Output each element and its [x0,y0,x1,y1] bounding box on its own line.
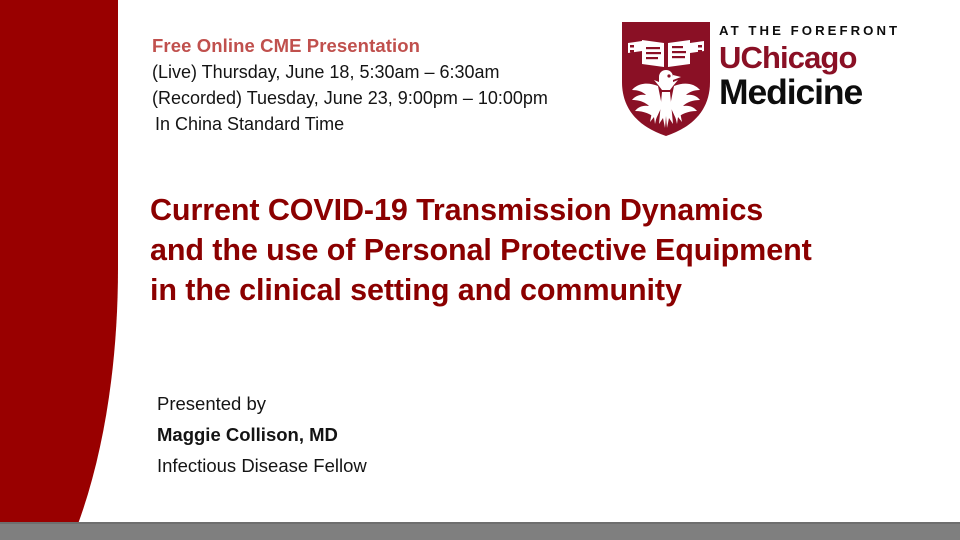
title-line-2: and the use of Personal Protective Equip… [150,230,890,270]
uchicago-phoenix-shield-icon [618,20,714,138]
cme-timezone: In China Standard Time [152,111,622,137]
presenter-block: Presented by Maggie Collison, MD Infecti… [157,388,557,481]
logo-wordmark: AT THE FOREFRONT UChicago Medicine [719,23,929,112]
uchicago-medicine-logo: AT THE FOREFRONT UChicago Medicine [618,20,928,140]
logo-brand-uchicago: UChicago [719,40,929,75]
footer-gray-bar [0,522,960,540]
title-line-3: in the clinical setting and community [150,270,890,310]
slide-title: Current COVID-19 Transmission Dynamics a… [150,190,890,310]
presenter-name: Maggie Collison, MD [157,419,557,450]
cme-info-block: Free Online CME Presentation (Live) Thur… [152,33,622,137]
cme-heading: Free Online CME Presentation [152,33,622,59]
presentation-slide: Free Online CME Presentation (Live) Thur… [0,0,960,540]
title-line-1: Current COVID-19 Transmission Dynamics [150,190,890,230]
presented-by-label: Presented by [157,388,557,419]
logo-unit-medicine: Medicine [719,73,929,112]
presenter-role: Infectious Disease Fellow [157,450,557,481]
cme-live-datetime: (Live) Thursday, June 18, 5:30am – 6:30a… [152,59,622,85]
cme-recorded-datetime: (Recorded) Tuesday, June 23, 9:00pm – 10… [152,85,622,111]
logo-tagline: AT THE FOREFRONT [719,23,929,39]
